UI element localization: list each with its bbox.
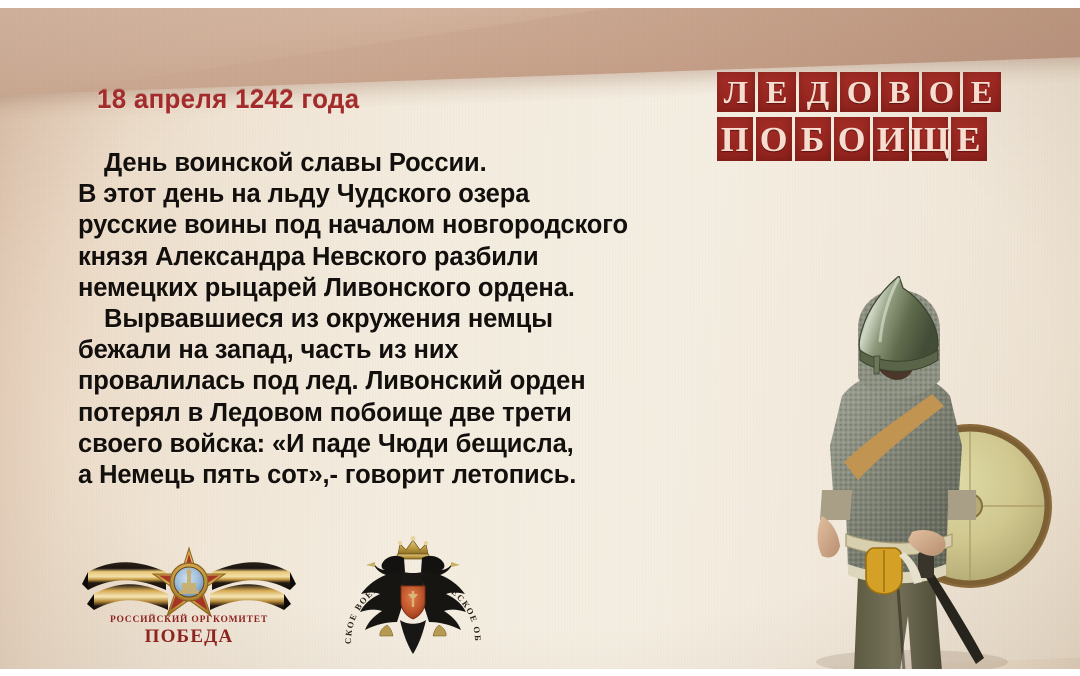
- emblem-rvio: РОССИЙСКОЕ ВОЕННО-ИСТОРИЧЕСКОЕ ОБЩЕСТВО: [330, 514, 496, 654]
- title-tile-poboishche: И: [873, 117, 909, 161]
- title-row-ledovoe: ЛЕДОВОЕ: [717, 72, 1001, 112]
- bottom-letterbox-band: [0, 669, 1080, 676]
- title-letter: Е: [957, 122, 981, 157]
- title-letter: В: [889, 76, 911, 108]
- poster-canvas: 18 апреля 1242 года День воинской славы …: [0, 0, 1080, 676]
- warrior-helmet: [859, 276, 938, 374]
- body-line: Вырвавшиеся из окружения немцы: [78, 304, 678, 335]
- st-george-ribbon-right: [210, 562, 296, 610]
- title-tile-poboishche: Щ: [912, 117, 948, 161]
- title-tile-ledovoe: О: [840, 72, 878, 112]
- body-line: бежали на запад, часть из них: [78, 335, 678, 366]
- body-line: своего войска: «И паде Чюди бещисла,: [78, 429, 678, 460]
- body-line: немецких рыцарей Ливонского ордена.: [78, 273, 678, 304]
- title-tile-ledovoe: В: [881, 72, 919, 112]
- title-letter: О: [928, 76, 953, 108]
- emblem-pobeda: РОССИЙСКИЙ ОРГКОМИТЕТ ПОБЕДА: [80, 528, 298, 648]
- title-letter: О: [846, 76, 871, 108]
- body-line: День воинской славы России.: [78, 148, 678, 179]
- title-letter: Д: [807, 76, 829, 108]
- warrior-pouch: [866, 548, 902, 594]
- title-tile-ledovoe: О: [922, 72, 960, 112]
- body-line: а Немець пять сот»,- говорит летопись.: [78, 460, 678, 491]
- double-headed-eagle-icon: [360, 536, 466, 654]
- title-tile-poboishche: Е: [951, 117, 987, 161]
- st-george-ribbon-left: [82, 562, 168, 610]
- title-tile-ledovoe: Л: [717, 72, 755, 112]
- title-letter: Б: [801, 122, 825, 157]
- poster-title: ЛЕДОВОЕ ПОБОИЩЕ: [717, 72, 1001, 166]
- emblem-pobeda-caption-top: РОССИЙСКИЙ ОРГКОМИТЕТ: [110, 613, 268, 625]
- title-tile-poboishche: П: [717, 117, 753, 161]
- body-paragraph: День воинской славы России.В этот день н…: [78, 148, 678, 304]
- title-tile-ledovoe: Д: [799, 72, 837, 112]
- title-tile-poboishche: Б: [795, 117, 831, 161]
- title-letter: О: [838, 122, 866, 157]
- title-letter: Е: [971, 76, 993, 108]
- body-line: русские воины под началом новгородского: [78, 210, 678, 241]
- poster-content: 18 апреля 1242 года День воинской славы …: [0, 0, 1080, 676]
- body-line: провалилась под лед. Ливонский орден: [78, 366, 678, 397]
- body-line: потерял в Ледовом побоище две трети: [78, 398, 678, 429]
- warrior-illustration: [762, 276, 1080, 671]
- body-paragraph: Вырвавшиеся из окружения немцыбежали на …: [78, 304, 678, 491]
- warrior-legs: [854, 576, 942, 671]
- body-line: В этот день на льду Чудского озера: [78, 179, 678, 210]
- emblem-pobeda-caption-main: ПОБЕДА: [145, 626, 234, 647]
- body-copy: День воинской славы России.В этот день н…: [78, 148, 678, 491]
- title-letter: Е: [766, 76, 788, 108]
- title-letter: И: [877, 122, 905, 157]
- title-tile-poboishche: О: [756, 117, 792, 161]
- title-tile-ledovoe: Е: [758, 72, 796, 112]
- title-letter: П: [721, 122, 749, 157]
- title-tile-poboishche: О: [834, 117, 870, 161]
- body-line: князя Александра Невского разбили: [78, 242, 678, 273]
- title-letter: Щ: [910, 122, 949, 157]
- top-letterbox-band: [0, 0, 1080, 8]
- date-headline: 18 апреля 1242 года: [97, 84, 359, 115]
- title-row-poboishche: ПОБОИЩЕ: [717, 117, 1001, 161]
- title-tile-ledovoe: Е: [963, 72, 1001, 112]
- title-letter: О: [760, 122, 788, 157]
- title-letter: Л: [724, 76, 748, 108]
